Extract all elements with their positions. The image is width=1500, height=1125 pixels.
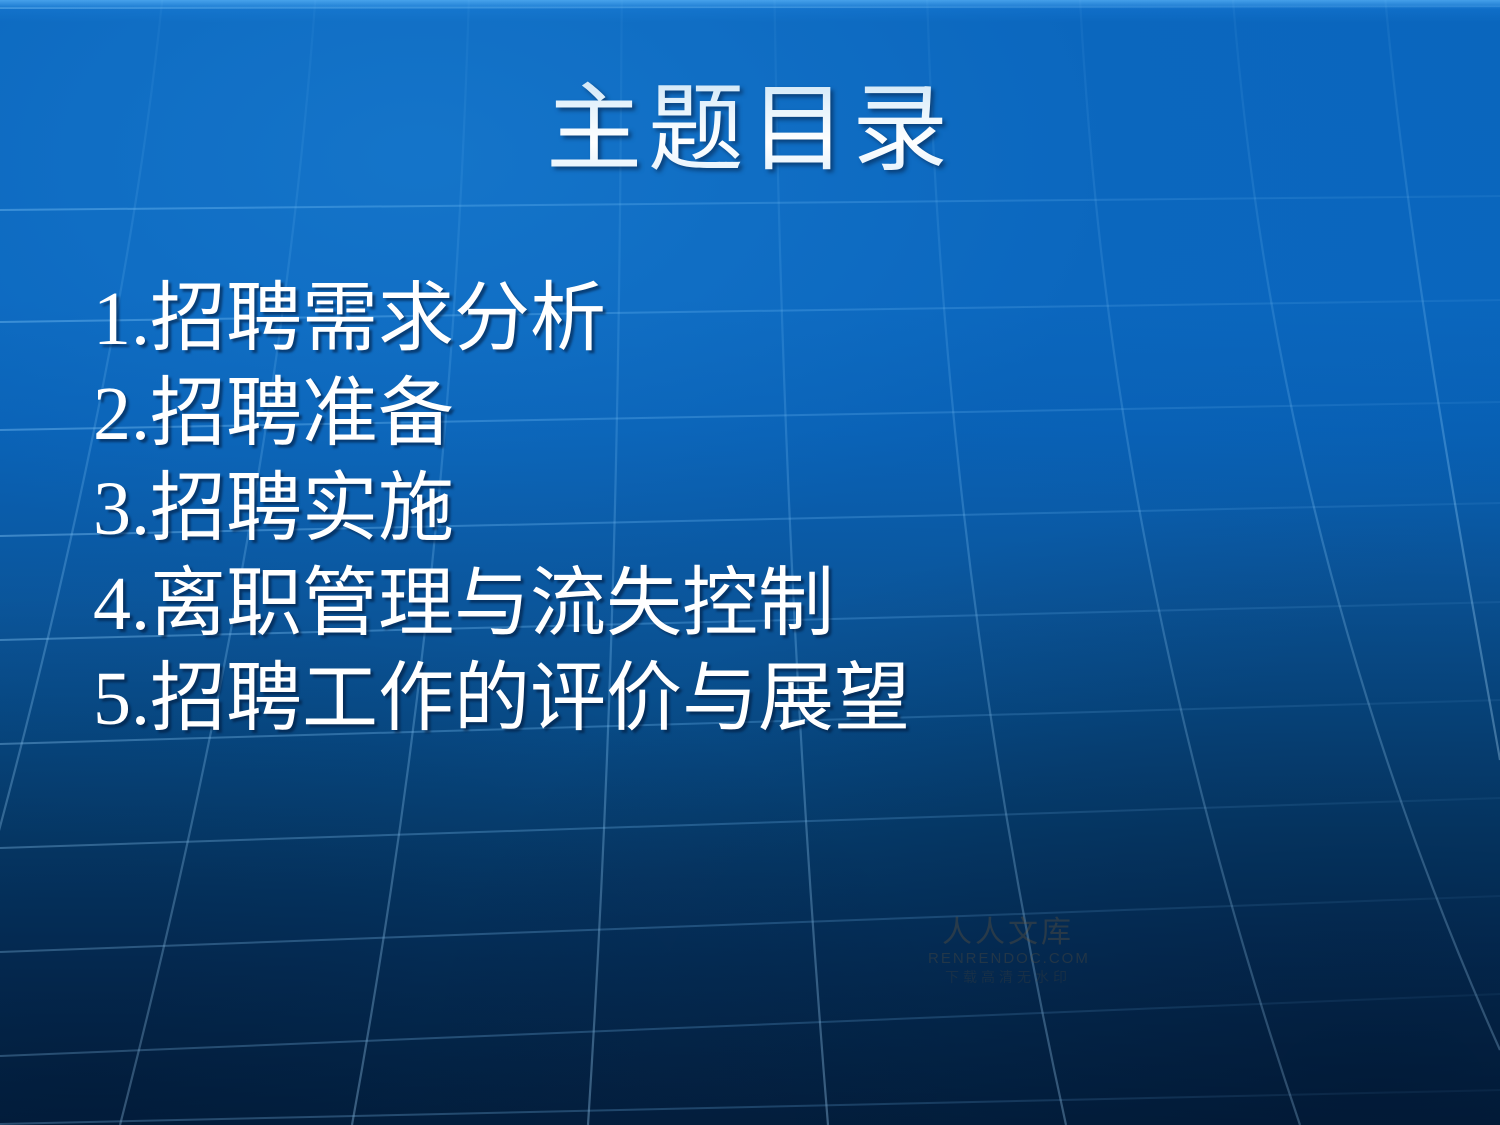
agenda-item-number: 4. [93,562,150,646]
agenda-item-label: 离职管理与流失控制 [150,562,834,646]
agenda-item-label: 招聘准备 [150,372,454,456]
presentation-slide: 主题目录 1.招聘需求分析 2.招聘准备 3.招聘实施 4.离职管理与流失控制 … [0,0,1500,1125]
agenda-item: 5.招聘工作的评价与展望 [93,652,1413,747]
agenda-item: 3.招聘实施 [93,462,1413,557]
agenda-item-number: 5. [93,657,150,741]
top-highlight-band [0,0,1500,9]
slide-title: 主题目录 [0,78,1500,182]
agenda-item: 1.招聘需求分析 [93,272,1413,367]
agenda-item: 2.招聘准备 [93,367,1413,462]
agenda-item-number: 3. [93,467,150,551]
agenda-item-number: 1. [93,277,150,361]
agenda-item-label: 招聘实施 [150,467,454,551]
agenda-list: 1.招聘需求分析 2.招聘准备 3.招聘实施 4.离职管理与流失控制 5.招聘工… [93,272,1413,747]
agenda-item-label: 招聘工作的评价与展望 [150,657,910,741]
agenda-item-number: 2. [93,372,150,456]
agenda-item-label: 招聘需求分析 [150,277,606,361]
agenda-item: 4.离职管理与流失控制 [93,557,1413,652]
